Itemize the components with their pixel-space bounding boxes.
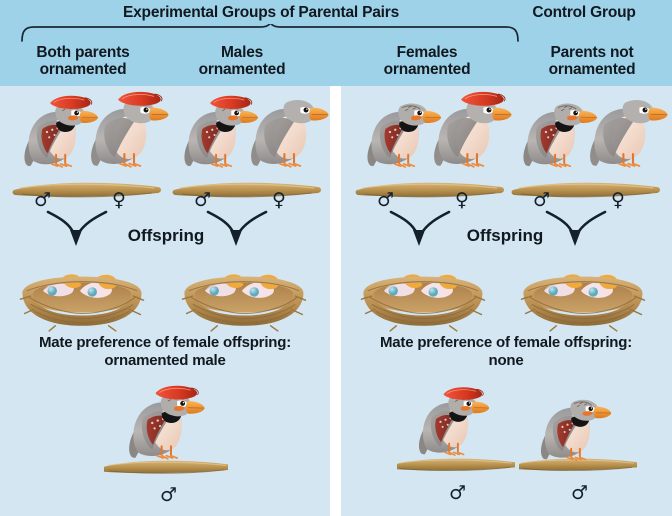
- mate-preference-control: Mate preference of female offspring: non…: [343, 334, 669, 370]
- column-label-line1: Both parents: [36, 44, 129, 61]
- header-band: Experimental Groups of Parental Pairs Co…: [0, 0, 672, 86]
- experimental-groups-title: Experimental Groups of Parental Pairs: [26, 4, 496, 22]
- column-label-line2: ornamented: [199, 61, 286, 78]
- column-label-parents-not-ornamented: Parents not ornamented: [514, 44, 670, 78]
- cross-arrow-males-ornamented: [200, 208, 280, 248]
- figure-root: Experimental Groups of Parental Pairs Co…: [0, 0, 672, 516]
- mate-preference-line1: Mate preference of female offspring:: [380, 334, 632, 351]
- nest-both-parents: [18, 254, 148, 334]
- parent-pair-males-ornamented: ♂ ♀: [166, 86, 332, 216]
- column-label-line1: Parents not: [550, 44, 633, 61]
- column-label-line2: ornamented: [549, 61, 636, 78]
- mate-preference-experimental: Mate preference of female offspring: orn…: [2, 334, 328, 370]
- mate-preference-line1: Mate preference of female offspring:: [39, 334, 291, 351]
- result-bird-preferred-male: ♂: [104, 382, 228, 512]
- column-label-both-parents-ornamented: Both parents ornamented: [4, 44, 162, 78]
- experimental-panel: ♂ ♀ ♂ ♀ Offspring: [0, 86, 330, 516]
- nest-females-ornamented: [359, 254, 489, 334]
- column-label-males-ornamented: Males ornamented: [163, 44, 321, 78]
- result-bird-choice-male-ornamented: ♂: [397, 382, 515, 512]
- mate-preference-line2: none: [488, 352, 523, 369]
- result-bird-choice-male-plain: ♂: [519, 382, 637, 512]
- column-label-line1: Males: [221, 44, 263, 61]
- male-symbol: ♂: [449, 484, 466, 503]
- offspring-label-control: Offspring: [459, 226, 551, 246]
- column-label-females-ornamented: Females ornamented: [341, 44, 513, 78]
- column-label-line2: ornamented: [40, 61, 127, 78]
- nest-parents-not-ornamented: [519, 254, 649, 334]
- mate-preference-line2: ornamented male: [104, 352, 225, 369]
- column-label-line1: Females: [397, 44, 458, 61]
- male-symbol: ♂: [571, 484, 588, 503]
- parent-pair-both-parents-ornamented: ♂ ♀: [6, 86, 172, 216]
- control-panel: ♂ ♀ ♂ ♀ Offspring Mate prefer: [341, 86, 672, 516]
- parent-pair-females-ornamented: ♂ ♀: [349, 86, 515, 216]
- panel-divider: [330, 86, 341, 516]
- offspring-label-experimental: Offspring: [120, 226, 212, 246]
- control-group-title: Control Group: [498, 4, 670, 22]
- experimental-groups-bracket: [20, 24, 520, 42]
- cross-arrow-parents-not-ornamented: [539, 208, 619, 248]
- column-label-line2: ornamented: [384, 61, 471, 78]
- cross-arrow-females-ornamented: [383, 208, 463, 248]
- nest-males-ornamented: [180, 254, 310, 334]
- parent-pair-parents-not-ornamented: ♂ ♀: [505, 86, 671, 216]
- male-symbol: ♂: [160, 486, 177, 505]
- cross-arrow-both-parents: [40, 208, 120, 248]
